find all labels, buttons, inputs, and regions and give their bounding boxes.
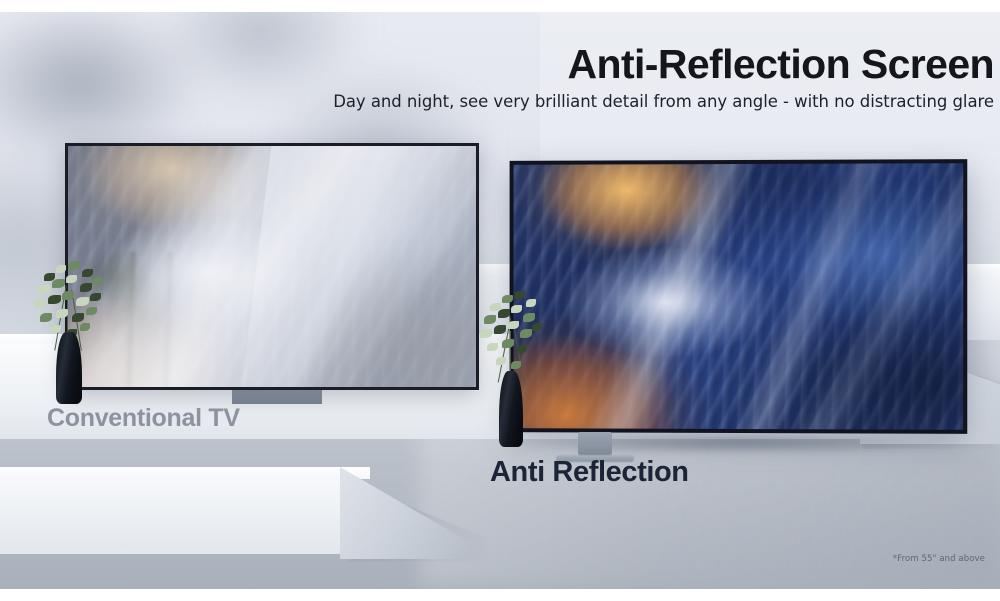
page-subtitle: Day and night, see very brilliant detail… [333, 92, 994, 111]
conventional-tv-screen [68, 146, 476, 387]
promo-banner: Anti-Reflection Screen Day and night, se… [0, 0, 1000, 601]
screen-artwork-conventional [68, 146, 476, 387]
plant-left [30, 259, 108, 404]
plant-left-vase [56, 332, 82, 404]
label-conventional-tv: Conventional TV [47, 404, 240, 433]
footnote-disclaimer: *From 55" and above [893, 554, 985, 564]
page-title: Anti-Reflection Screen [568, 41, 995, 88]
anti-reflection-tv-screen [514, 163, 964, 430]
plant-right-vase [499, 371, 523, 447]
label-anti-reflection: Anti Reflection [490, 456, 689, 489]
front-step [0, 474, 360, 554]
plant-right-foliage [478, 287, 544, 383]
bottom-white-band [0, 589, 1000, 601]
plant-right [478, 287, 544, 447]
conventional-tv [65, 143, 479, 390]
conventional-tv-stand [232, 390, 322, 404]
top-white-band [0, 0, 1000, 12]
screen-artwork-anti-reflection [514, 163, 964, 430]
front-step-top [0, 467, 370, 479]
anti-reflection-tv [510, 159, 968, 434]
